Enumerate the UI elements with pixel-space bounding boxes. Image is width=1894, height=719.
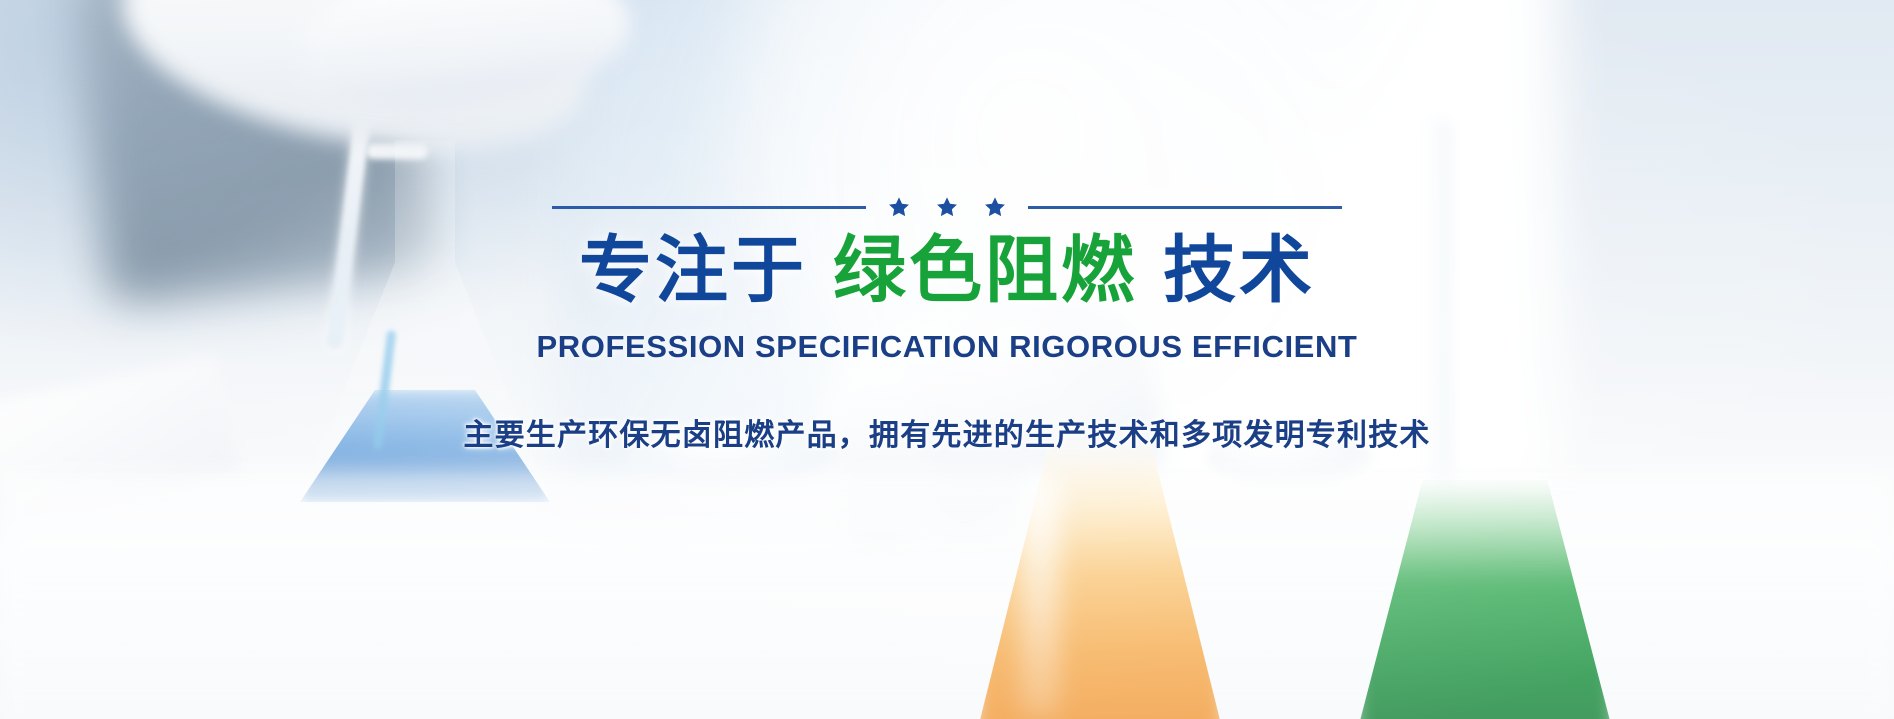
- banner-description: 主要生产环保无卤阻燃产品，拥有先进的生产技术和多项发明专利技术: [463, 410, 1430, 454]
- headline-part-1: 专注于: [579, 230, 807, 311]
- star-icon: [888, 196, 910, 218]
- headline-part-3: 技术: [1163, 230, 1315, 311]
- divider-line-left: [552, 206, 866, 209]
- decorative-divider: [552, 196, 1342, 218]
- star-group: [888, 196, 1006, 218]
- headline: 专注于绿色阻燃技术: [579, 234, 1315, 307]
- headline-subtitle: PROFESSION SPECIFICATION RIGOROUS EFFICI…: [537, 329, 1358, 365]
- banner-content: 专注于绿色阻燃技术 PROFESSION SPECIFICATION RIGOR…: [0, 0, 1894, 719]
- star-icon: [936, 196, 958, 218]
- hero-banner: 专注于绿色阻燃技术 PROFESSION SPECIFICATION RIGOR…: [0, 0, 1894, 719]
- divider-line-right: [1028, 206, 1342, 209]
- headline-part-2: 绿色阻燃: [833, 230, 1137, 311]
- star-icon: [984, 196, 1006, 218]
